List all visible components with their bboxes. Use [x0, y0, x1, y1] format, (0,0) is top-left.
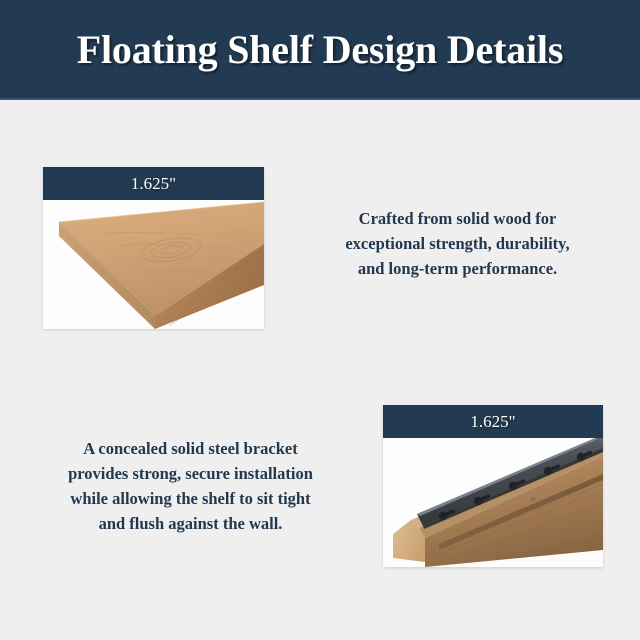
wood-shelf-illustration [43, 200, 264, 329]
wood-description: Crafted from solid wood for exceptional … [305, 206, 610, 281]
shelf-thickness-label: 1.625" [43, 167, 264, 200]
bracket-description-line-2: provides strong, secure installation [28, 461, 353, 486]
bracket-description: A concealed solid steel bracket provides… [28, 436, 353, 536]
bracket-description-line-1: A concealed solid steel bracket [28, 436, 353, 461]
wood-description-line-1: Crafted from solid wood for [305, 206, 610, 231]
bracket-thickness-card: 1.625" [383, 405, 603, 567]
shelf-thickness-card: 1.625" [43, 167, 264, 329]
page-header: Floating Shelf Design Details [0, 0, 640, 100]
wood-description-line-3: and long-term performance. [305, 256, 610, 281]
page-title: Floating Shelf Design Details [77, 26, 563, 73]
bracket-description-line-4: and flush against the wall. [28, 511, 353, 536]
steel-bracket-illustration [383, 438, 603, 567]
bracket-description-line-3: while allowing the shelf to sit tight [28, 486, 353, 511]
shelf-photo [43, 200, 264, 329]
wood-description-line-2: exceptional strength, durability, [305, 231, 610, 256]
bracket-photo [383, 438, 603, 567]
bracket-thickness-label: 1.625" [383, 405, 603, 438]
